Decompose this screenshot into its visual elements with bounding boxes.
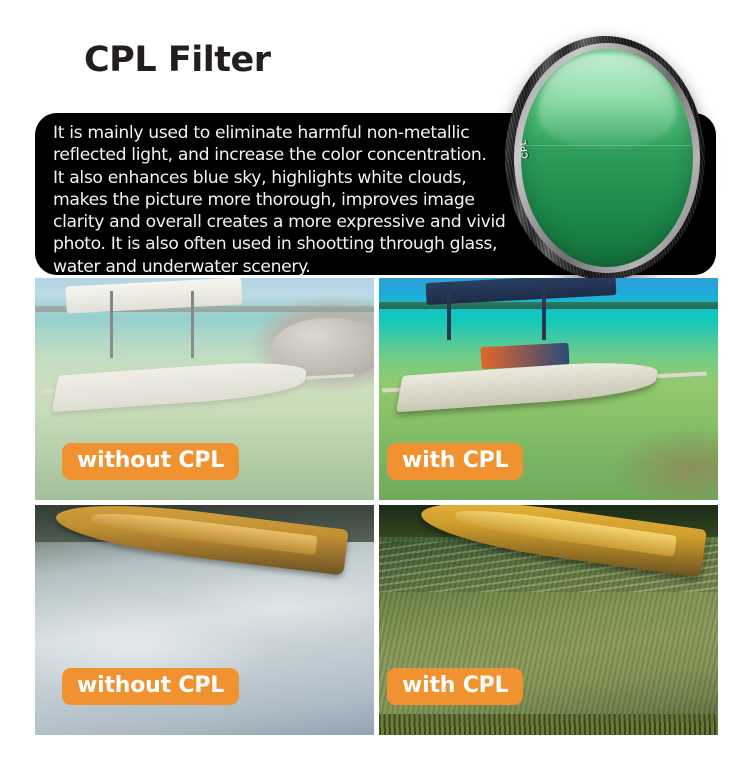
description-text: It is mainly used to eliminate harmful n… <box>53 122 523 278</box>
page-title: CPL Filter <box>84 40 270 80</box>
comparison-photo-grid: without CPL with CPL without CPL with CP… <box>35 278 716 735</box>
cpl-filter-lens: CPL <box>505 36 710 280</box>
photo-beach-boat-without-cpl: without CPL <box>35 278 374 500</box>
badge-with-cpl-bottom: with CPL <box>387 668 523 705</box>
photo-canoe-with-cpl: with CPL <box>379 505 718 735</box>
lens-reflection-band <box>521 145 693 146</box>
bottom-grass <box>379 714 718 735</box>
boat-canopy <box>426 278 617 305</box>
badge-with-cpl-top: with CPL <box>387 443 523 480</box>
photo-beach-boat-with-cpl: with CPL <box>379 278 718 500</box>
boat-mast-left <box>447 282 451 340</box>
photo-canoe-without-cpl: without CPL <box>35 505 374 735</box>
badge-without-cpl-bottom: without CPL <box>62 668 239 705</box>
lens-glass <box>521 49 693 267</box>
boat-mast-right <box>542 282 546 340</box>
badge-without-cpl-top: without CPL <box>62 443 239 480</box>
lens-highlight <box>538 53 676 149</box>
